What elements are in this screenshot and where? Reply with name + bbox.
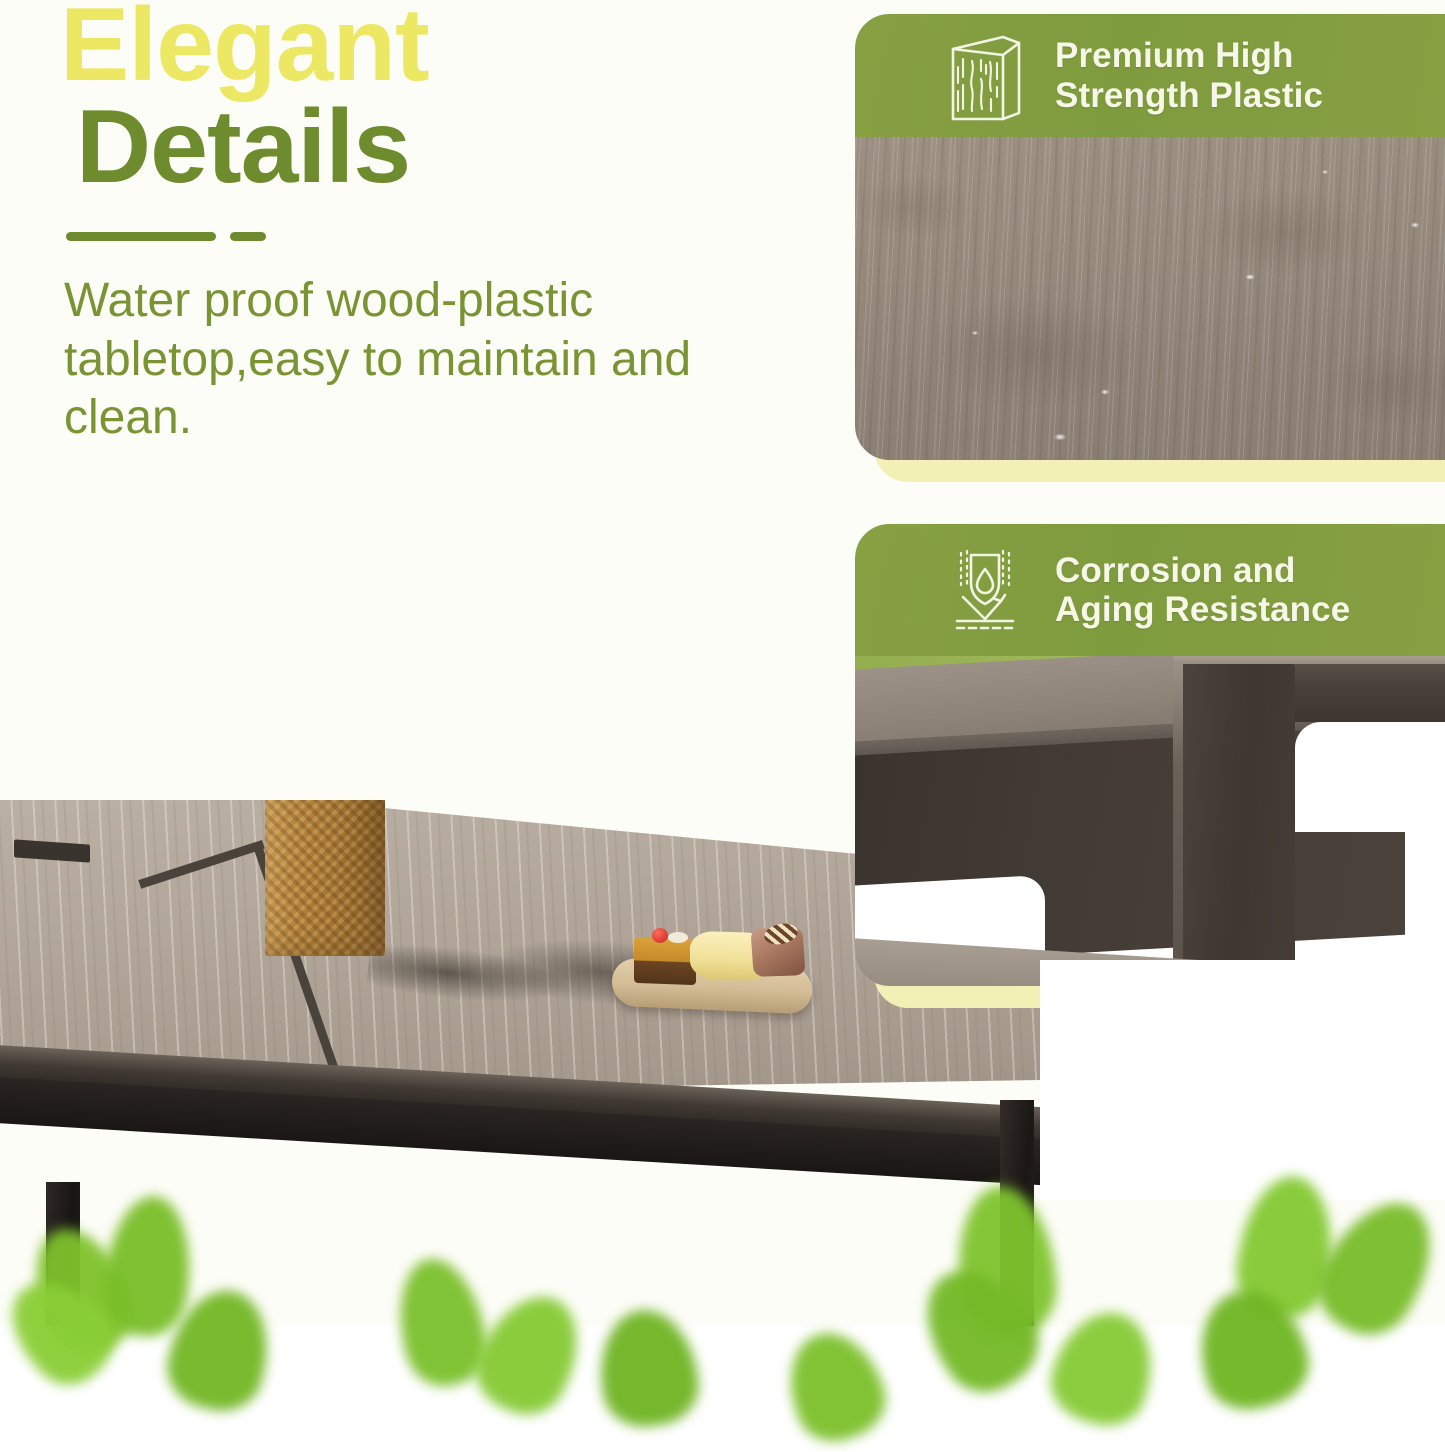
- table-leg-left: [46, 1182, 80, 1326]
- feature-card-1-title-line1: Premium High: [1055, 36, 1323, 75]
- table-leg-right: [1000, 1100, 1034, 1326]
- photo-rail-cutout: [1295, 722, 1445, 832]
- photo-table-leg: [1173, 664, 1295, 986]
- feature-card-1-title: Premium High Strength Plastic: [1055, 36, 1323, 114]
- wood-plank-icon: [941, 27, 1029, 125]
- cream-topping: [668, 932, 688, 943]
- cake-with-cherry: [634, 937, 696, 985]
- feature-card-1-banner: Premium High Strength Plastic: [855, 14, 1445, 137]
- headline-line-elegant: Elegant: [60, 0, 820, 95]
- feature-card-2-title-line1: Corrosion and: [1055, 551, 1350, 590]
- feature-card-2-photo: [855, 656, 1445, 986]
- headline-block: Elegant Details: [60, 0, 820, 199]
- leaf-14: [774, 1320, 896, 1452]
- feature-card-corrosion-resistance: Corrosion and Aging Resistance: [855, 524, 1445, 986]
- subcopy-text: Water proof wood-plastic tabletop,easy t…: [64, 272, 764, 448]
- photo-white-gutter: [1040, 960, 1445, 1200]
- feature-card-1-photo: [855, 137, 1445, 460]
- water-shield-droplet-icon: [941, 541, 1029, 639]
- feature-card-1-title-line2: Strength Plastic: [1055, 76, 1323, 115]
- woven-straw-vase: [265, 800, 385, 956]
- divider-long-dash: [66, 232, 216, 241]
- headline-line-details: Details: [76, 97, 820, 199]
- headline-divider: [66, 232, 266, 241]
- feature-card-premium-plastic: Premium High Strength Plastic: [855, 14, 1445, 460]
- divider-short-dash: [230, 232, 266, 241]
- feature-card-2-title-line2: Aging Resistance: [1055, 590, 1350, 629]
- feature-card-2-title: Corrosion and Aging Resistance: [1055, 551, 1350, 629]
- photo-table-leg-highlight: [1173, 664, 1183, 986]
- feature-card-2-banner: Corrosion and Aging Resistance: [855, 524, 1445, 656]
- cherry-topping: [652, 928, 668, 943]
